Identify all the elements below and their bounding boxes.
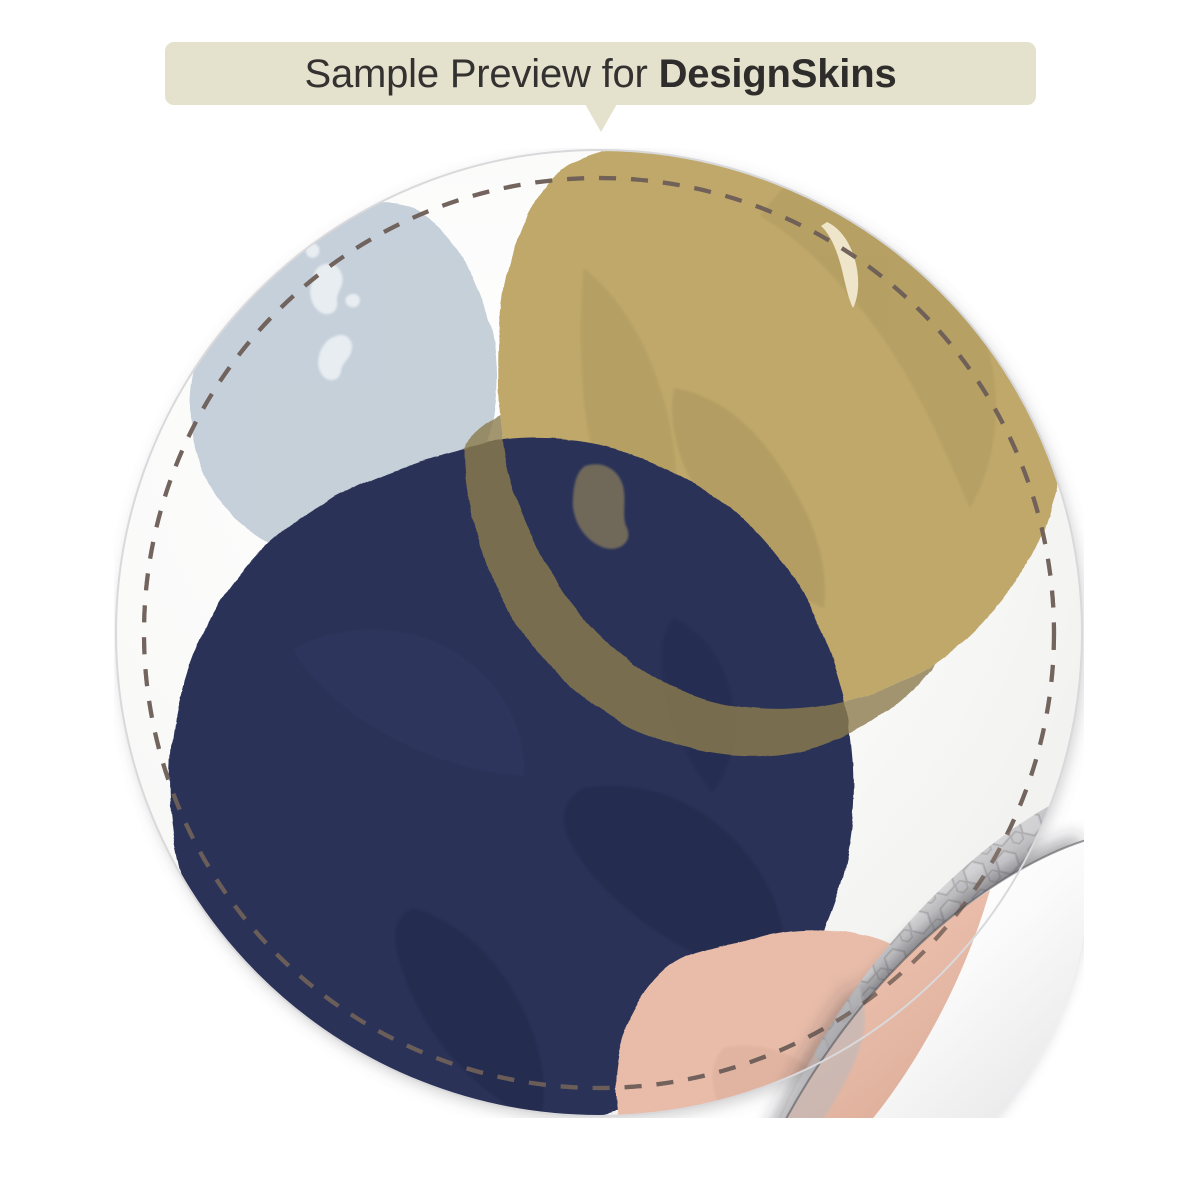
banner-label: Sample Preview for DesignSkins [304,54,896,94]
product-artwork-svg [114,148,1084,1118]
sample-preview-banner: Sample Preview for DesignSkins [165,42,1036,105]
banner-pointer-triangle [585,104,617,132]
banner-label-regular: Sample Preview for [304,52,658,96]
screenshot-stage: Sample Preview for DesignSkins [0,0,1200,1200]
banner-label-brand: DesignSkins [659,52,897,96]
round-mousepad-product-image [114,148,1084,1118]
